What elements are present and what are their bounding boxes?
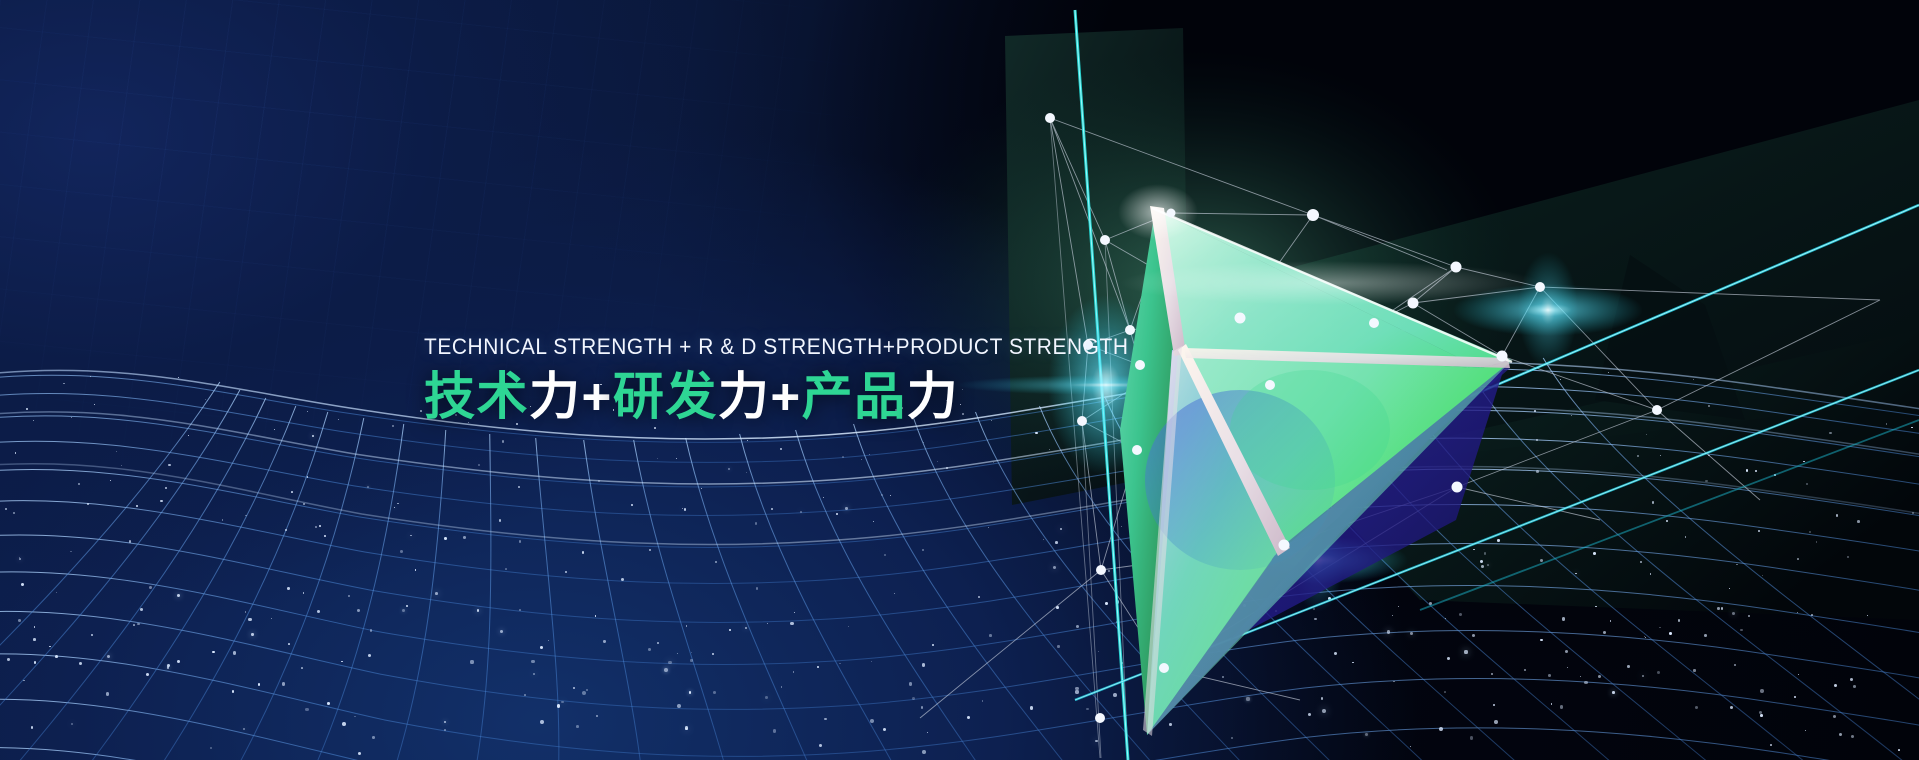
- headline-chinese-segment: 力: [529, 368, 582, 425]
- headline-chinese: 技术力+研发力+产品力: [424, 370, 1182, 423]
- headline-chinese-segment: +: [582, 368, 613, 425]
- headline-chinese-segment: +: [770, 368, 801, 425]
- headline-chinese-segment: 力: [718, 368, 771, 425]
- hero-banner: TECHNICAL STRENGTH + R & D STRENGTH+PROD…: [0, 0, 1919, 760]
- headline-english: TECHNICAL STRENGTH + R & D STRENGTH+PROD…: [424, 336, 1129, 359]
- headline-chinese-segment: 产品: [802, 368, 907, 425]
- headline-chinese-segment: 技术: [424, 368, 529, 425]
- headline-group: TECHNICAL STRENGTH + R & D STRENGTH+PROD…: [424, 336, 1182, 423]
- headline-chinese-segment: 力: [907, 368, 960, 425]
- headline-chinese-segment: 研发: [613, 368, 718, 425]
